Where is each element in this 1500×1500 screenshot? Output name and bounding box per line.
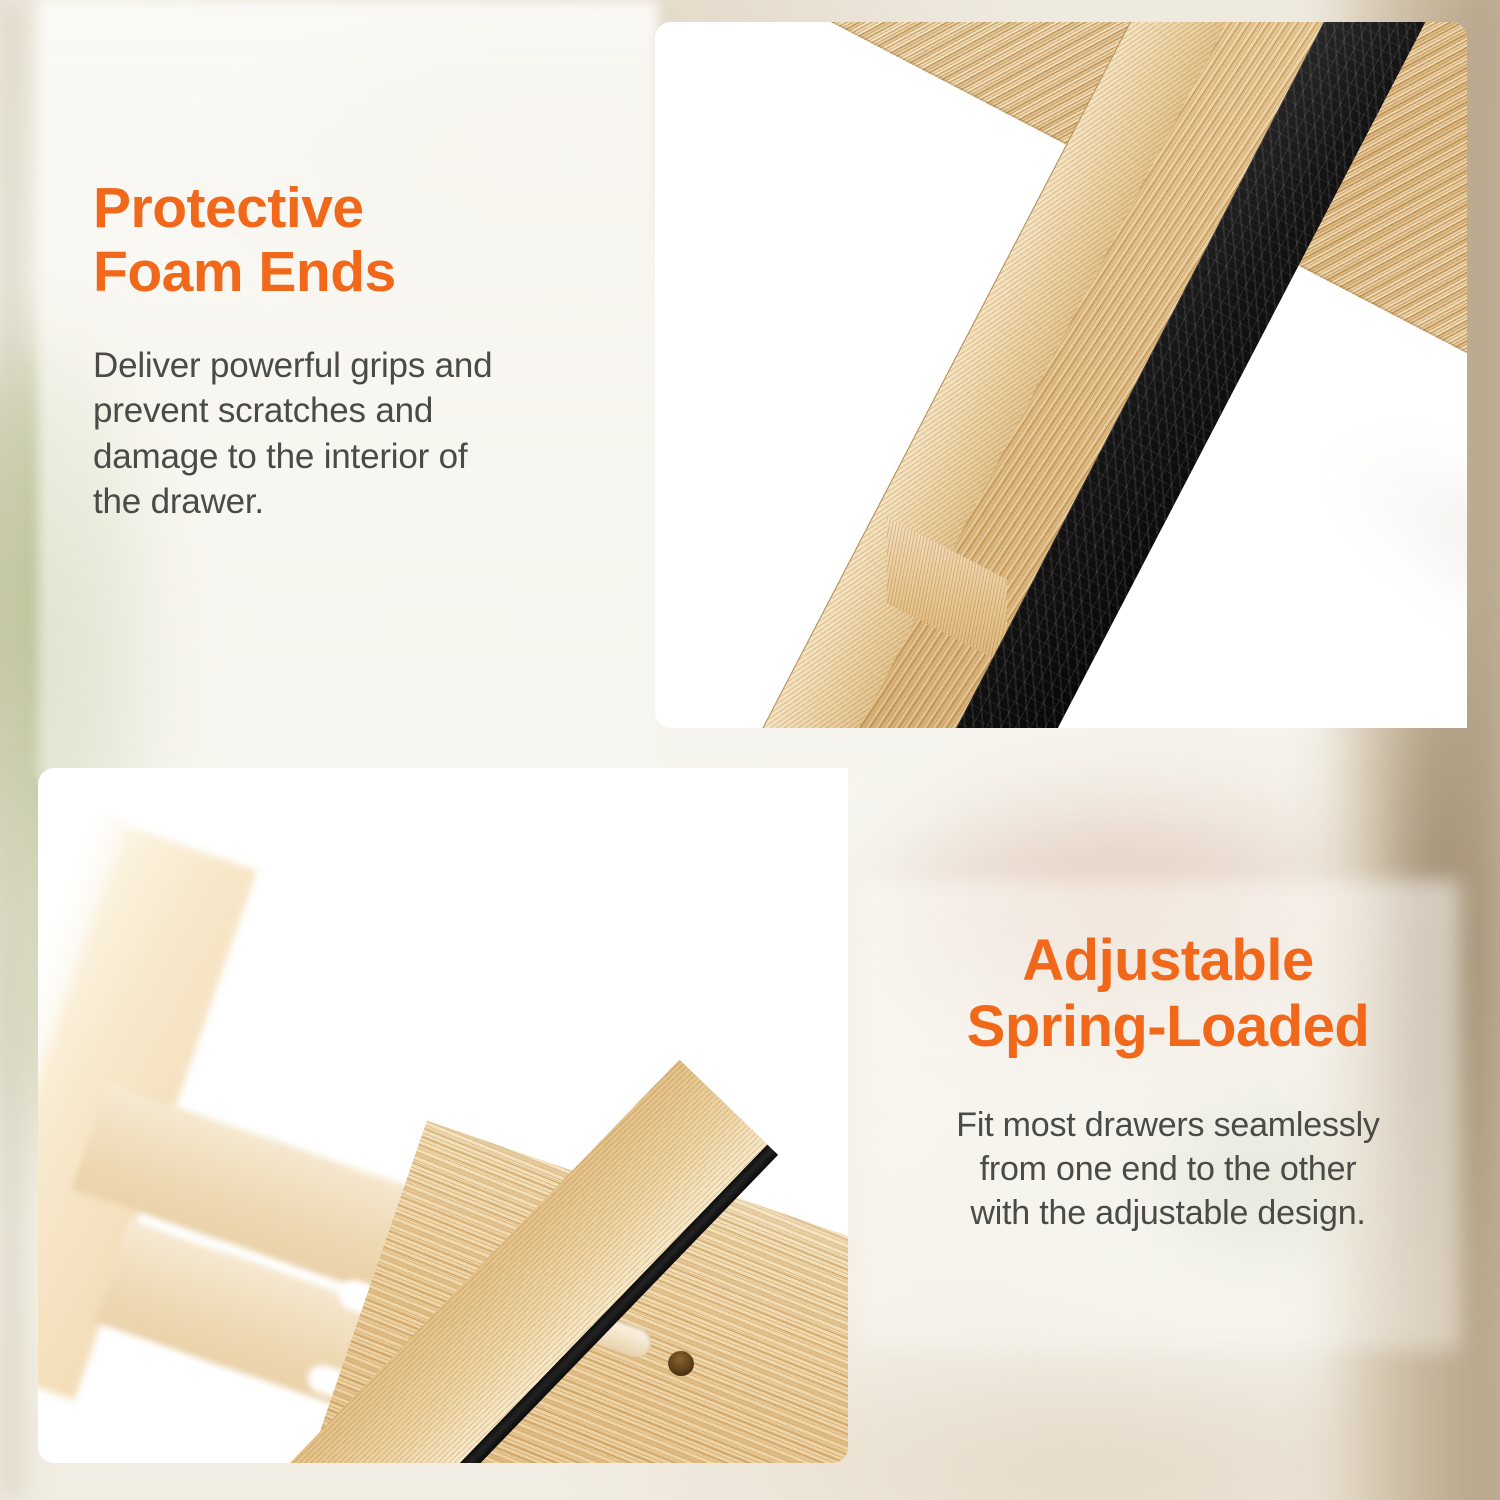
body-line-2: from one end to the other: [903, 1147, 1433, 1191]
photo-card-protective-foam-ends: [655, 22, 1467, 728]
bamboo-board-photo: [655, 22, 1467, 728]
body-protective-foam-ends: Deliver powerful grips and prevent scrat…: [93, 343, 613, 525]
board-contact-shadow: [1285, 375, 1467, 728]
body-line-1: Deliver powerful grips and: [93, 343, 613, 389]
feature-copy-protective-foam-ends: Protective Foam Ends Deliver powerful gr…: [93, 176, 613, 525]
headline-line-1: Adjustable: [903, 928, 1433, 994]
infographic-canvas: Protective Foam Ends Deliver powerful gr…: [0, 0, 1500, 1500]
headline-line-1: Protective: [93, 176, 613, 240]
spring-loaded-divider-photo: [38, 768, 848, 1463]
body-line-2: prevent scratches and: [93, 388, 613, 434]
photo-card-adjustable-spring-loaded: [38, 768, 848, 1463]
headline-protective-foam-ends: Protective Foam Ends: [93, 176, 613, 305]
feature-copy-adjustable-spring-loaded: Adjustable Spring-Loaded Fit most drawer…: [903, 928, 1433, 1236]
headline-line-2: Foam Ends: [93, 240, 613, 304]
headline-adjustable-spring-loaded: Adjustable Spring-Loaded: [903, 928, 1433, 1059]
body-line-3: damage to the interior of: [93, 434, 613, 480]
body-line-1: Fit most drawers seamlessly: [903, 1103, 1433, 1147]
body-line-4: the drawer.: [93, 479, 613, 525]
body-line-3: with the adjustable design.: [903, 1191, 1433, 1235]
body-adjustable-spring-loaded: Fit most drawers seamlessly from one end…: [903, 1103, 1433, 1236]
headline-line-2: Spring-Loaded: [903, 994, 1433, 1060]
